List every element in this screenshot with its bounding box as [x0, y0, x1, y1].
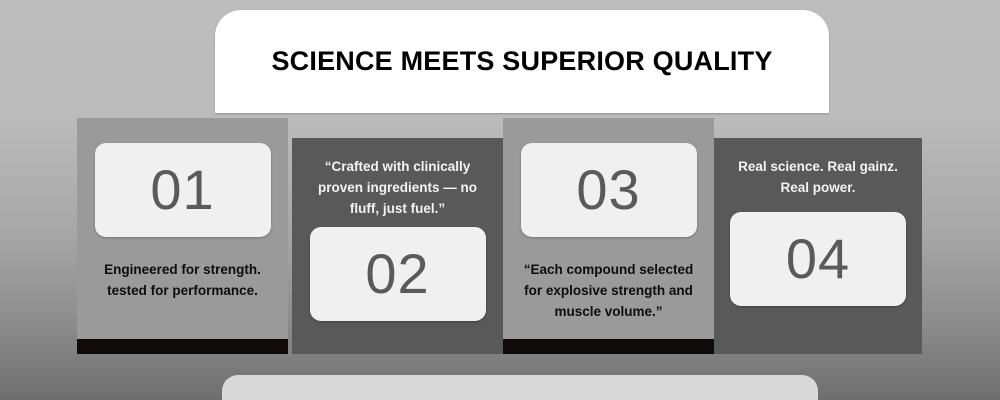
card-description: “Crafted with clinically proven ingredie… [306, 156, 490, 219]
feature-card-04[interactable]: Real science. Real gainz. Real power. 04 [714, 138, 922, 354]
feature-card-02[interactable]: “Crafted with clinically proven ingredie… [292, 138, 503, 354]
card-footer-strip [503, 339, 714, 354]
feature-card-03[interactable]: 03 “Each compound selected for explosive… [503, 118, 714, 354]
card-number-badge: 02 [310, 227, 486, 321]
bottom-panel [222, 375, 818, 400]
card-number-badge: 03 [521, 143, 697, 237]
feature-card-01[interactable]: 01 Engineered for strength. tested for p… [77, 118, 288, 354]
card-description: Engineered for strength. tested for perf… [91, 259, 275, 301]
infographic-stage: SCIENCE MEETS SUPERIOR QUALITY 01 Engine… [0, 0, 1000, 400]
card-footer-strip [77, 339, 288, 354]
card-description: “Each compound selected for explosive st… [517, 259, 701, 322]
card-description: Real science. Real gainz. Real power. [726, 156, 910, 198]
page-title: SCIENCE MEETS SUPERIOR QUALITY [271, 46, 772, 77]
header-banner: SCIENCE MEETS SUPERIOR QUALITY [215, 10, 829, 113]
card-number-badge: 01 [95, 143, 271, 237]
card-number-badge: 04 [730, 212, 906, 306]
